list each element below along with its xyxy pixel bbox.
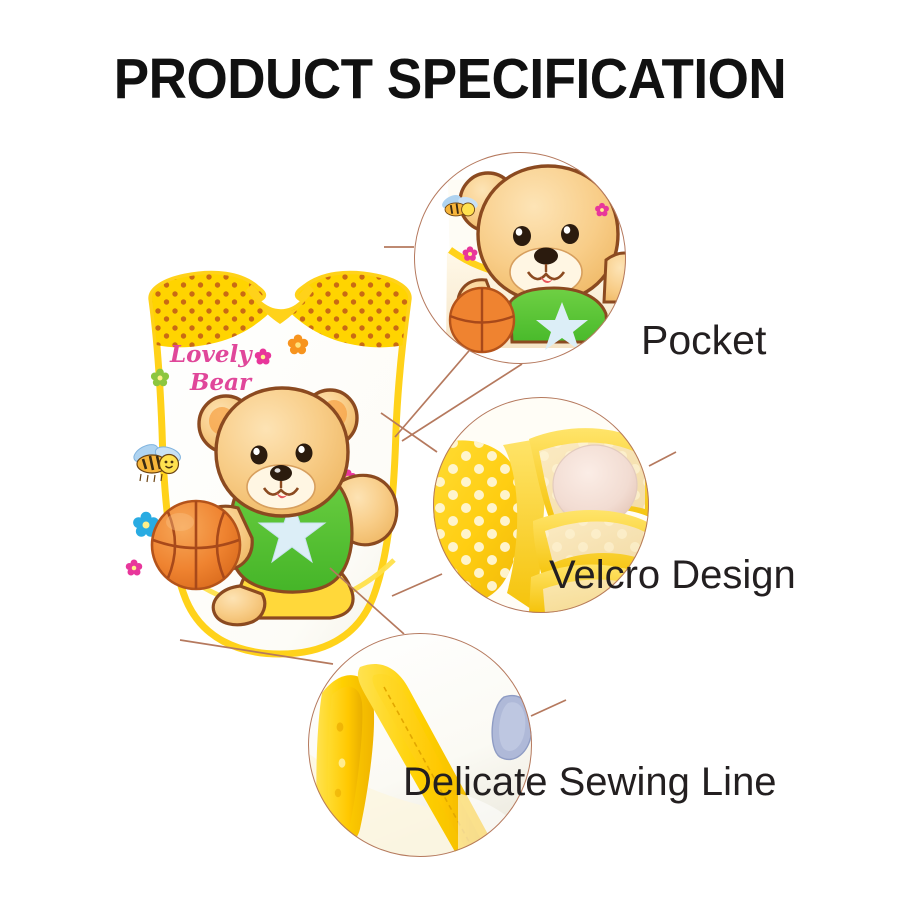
connector-pocket-a — [395, 345, 474, 437]
bib-print-text: Lovely Bear — [169, 341, 253, 396]
specification-sheet: PRODUCT SPECIFICATION — [0, 0, 900, 900]
callout-circle-sewing[interactable] — [308, 633, 532, 857]
connector-velcro-b — [392, 574, 442, 596]
connector-velcro-a — [381, 413, 437, 452]
bee-graphic — [131, 441, 182, 482]
connector-sewing-a — [180, 640, 333, 664]
sewing-detail-art — [308, 633, 532, 857]
bib-body — [150, 272, 410, 654]
print-line-2: Bear — [189, 369, 253, 396]
flower-decorations — [126, 334, 357, 575]
connector-velcro-tail — [649, 452, 676, 466]
callout-label-velcro: Velcro Design — [549, 555, 796, 595]
print-line-1: Lovely — [169, 341, 253, 368]
connector-sewing-b — [330, 568, 404, 634]
connector-sewing-tail — [531, 700, 566, 716]
callout-label-sewing: Delicate Sewing Line — [403, 762, 777, 802]
callout-circle-pocket[interactable] — [414, 152, 626, 364]
pocket-detail-art — [414, 152, 626, 364]
teddy-bear-graphic — [152, 388, 397, 625]
callout-label-pocket: Pocket — [641, 320, 766, 361]
page-title: PRODUCT SPECIFICATION — [32, 50, 869, 110]
